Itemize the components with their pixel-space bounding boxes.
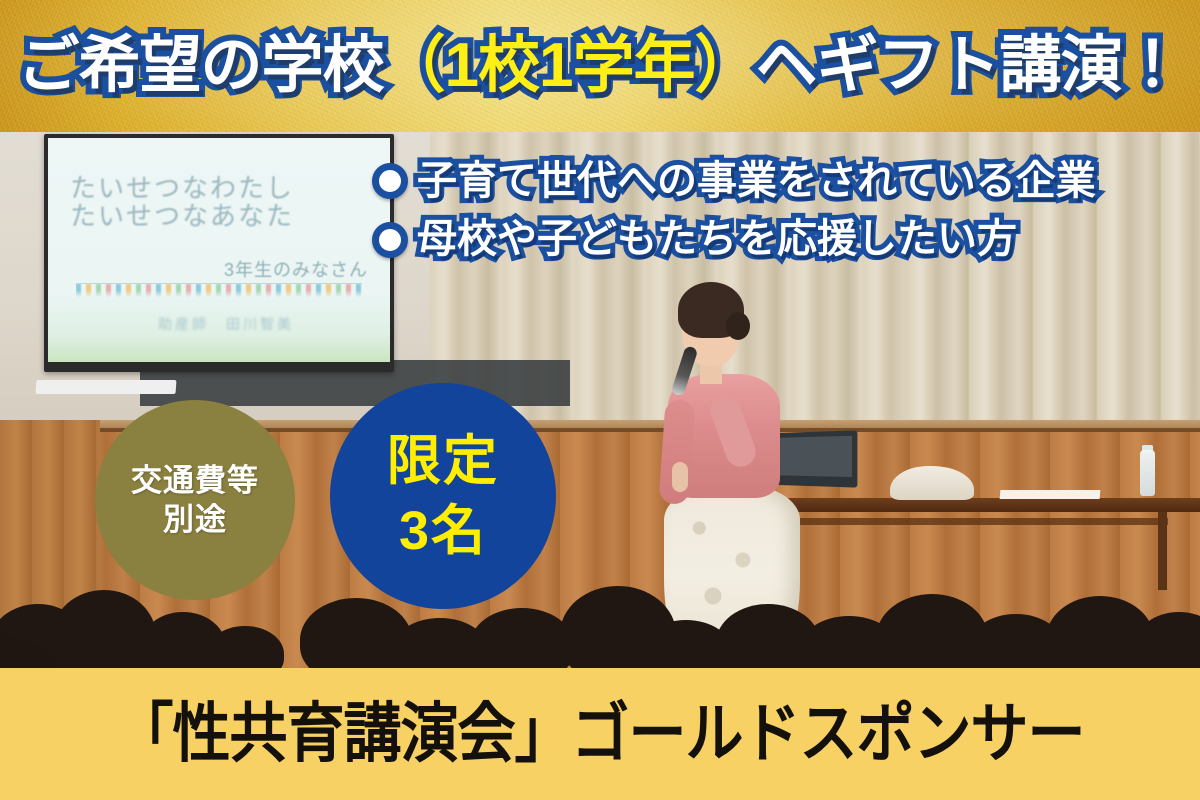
poster-root: ご希望の学校（1校1学年）ヘギフト講演！ たいせつなわたし たいせつなあなた 3… <box>0 0 1200 800</box>
benefit-list-item: 母校や子どもたちを応援したい方 <box>372 210 1096 268</box>
circle-bullet-icon <box>372 163 408 199</box>
header-title: ご希望の学校（1校1学年）ヘギフト講演！ <box>0 0 1200 132</box>
limit-badge-line-2: 3名 <box>399 496 487 566</box>
benefit-list-item-label: 子育て世代への事業をされている企業 <box>417 152 1096 210</box>
stage-table <box>760 498 1200 512</box>
papers-on-table <box>1000 490 1101 499</box>
slide-subtitle: 3年生のみなさん <box>224 256 368 282</box>
limit-badge-line-1: 限定 <box>387 426 499 496</box>
footer-title: 「性共育講演会」ゴールドスポンサー <box>115 702 1084 767</box>
benefit-list-item-label: 母校や子どもたちを応援したい方 <box>417 210 1017 268</box>
header-title-part-1: ご希望の学校 <box>18 35 384 97</box>
slide-presenter-name: 助産師 田川智美 <box>158 314 294 334</box>
limit-badge: 限定 3名 <box>330 383 556 609</box>
projector-screen: たいせつなわたし たいせつなあなた 3年生のみなさん 助産師 田川智美 <box>48 138 390 362</box>
footer-banner: 「性共育講演会」ゴールドスポンサー <box>0 668 1200 800</box>
fee-badge-line-1: 交通費等 <box>131 461 259 500</box>
header-banner: ご希望の学校（1校1学年）ヘギフト講演！ <box>0 0 1200 132</box>
slide-title-line-2: たいせつなあなた <box>70 196 294 233</box>
stage-table-leg-right <box>1158 512 1167 590</box>
fee-badge: 交通費等 別途 <box>95 400 295 600</box>
screen-base <box>36 380 177 394</box>
laptop-screen <box>768 436 852 477</box>
speaker-hand <box>672 462 688 492</box>
benefit-list-item: 子育て世代への事業をされている企業 <box>372 152 1096 210</box>
slide-bunting-icon <box>76 284 362 298</box>
header-title-part-2: （1校1学年） <box>384 35 756 97</box>
projector-screen-frame: たいせつなわたし たいせつなあなた 3年生のみなさん 助産師 田川智美 <box>44 134 394 372</box>
header-title-part-3: ヘギフト講演！ <box>755 35 1182 97</box>
circle-bullet-icon <box>372 222 408 258</box>
stage-table-brace <box>772 518 1168 525</box>
benefit-list: 子育て世代への事業をされている企業 母校や子どもたちを応援したい方 <box>372 152 1096 269</box>
fee-badge-line-2: 別途 <box>163 500 227 539</box>
water-bottle <box>1140 450 1155 496</box>
speaker-hair-bun <box>726 312 750 340</box>
